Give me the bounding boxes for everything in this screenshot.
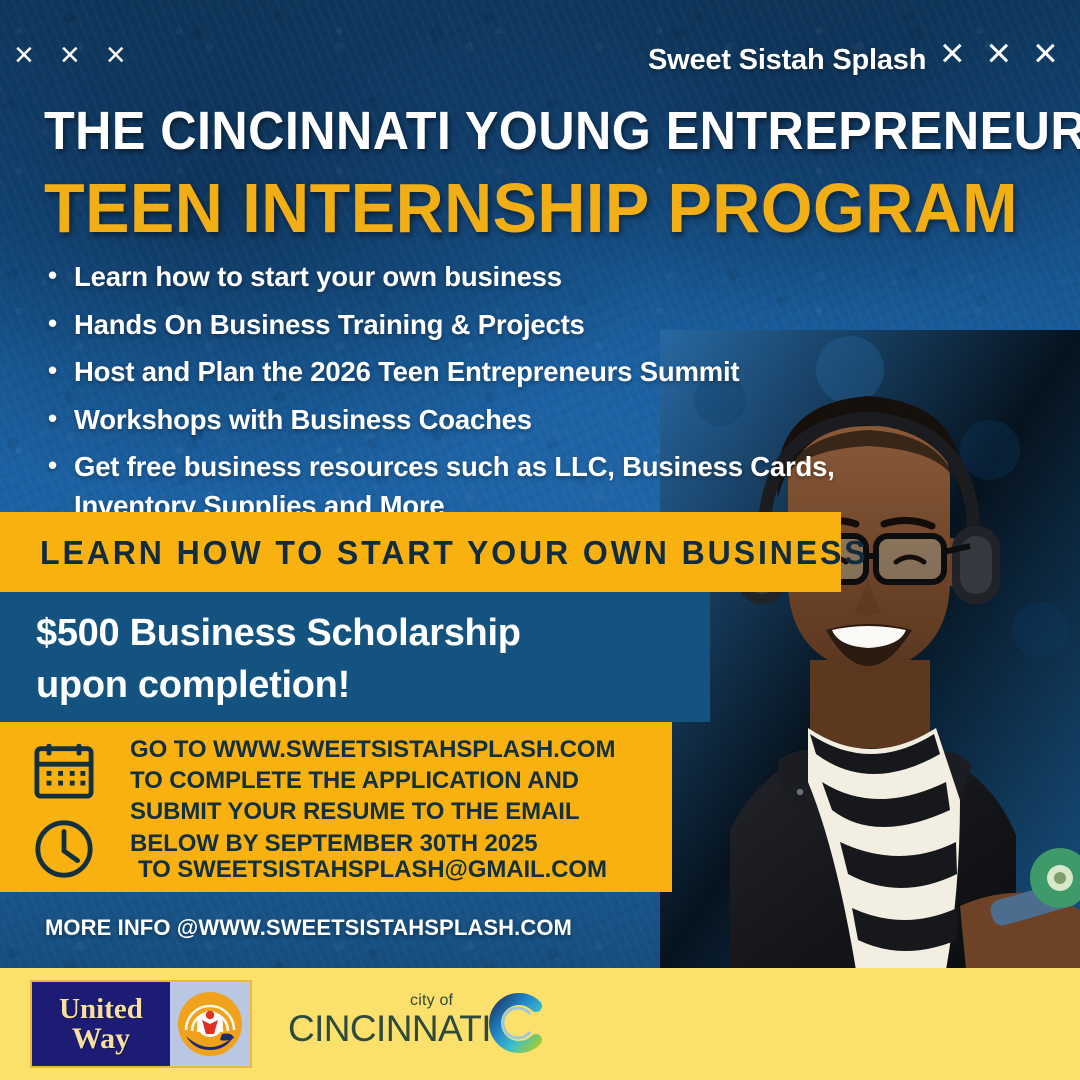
x-icon: × xyxy=(14,38,34,72)
united-way-word2: Way xyxy=(72,1024,130,1054)
united-way-wordmark: United Way xyxy=(32,982,170,1066)
clock-icon xyxy=(33,818,95,880)
apply-line: SUBMIT YOUR RESUME TO THE EMAIL xyxy=(130,796,660,827)
sponsor-footer: United Way xyxy=(0,968,1080,1080)
list-item: Hands On Business Training & Projects xyxy=(44,306,844,345)
x-icon: × xyxy=(987,32,1012,74)
united-way-word1: United xyxy=(59,995,143,1024)
flyer-canvas: × × × Sweet Sistah Splash × × × THE CINC… xyxy=(0,0,1080,1080)
decorative-x-marks-right: × × × xyxy=(940,32,1058,74)
application-instructions-block: GO TO WWW.SWEETSISTAHSPLASH.COM TO COMPL… xyxy=(0,722,672,892)
list-item: Workshops with Business Coaches xyxy=(44,401,844,440)
cincinnati-wordmark: CINCINNATI xyxy=(288,1008,491,1050)
application-steps: GO TO WWW.SWEETSISTAHSPLASH.COM TO COMPL… xyxy=(130,734,660,859)
decorative-x-marks-left: × × × xyxy=(14,38,126,72)
scholarship-condition: upon completion! xyxy=(36,664,350,707)
x-icon: × xyxy=(940,32,965,74)
scholarship-amount: $500 Business Scholarship xyxy=(36,612,521,655)
x-icon: × xyxy=(1033,32,1058,74)
headline-primary: THE CINCINNATI YOUNG ENTREPRENEURS xyxy=(44,100,788,162)
tagline-text: LEARN HOW TO START YOUR OWN BUSINESS xyxy=(40,534,869,572)
apply-line: TO COMPLETE THE APPLICATION AND xyxy=(130,765,660,796)
united-way-logo: United Way xyxy=(30,980,252,1068)
list-item: Host and Plan the 2026 Teen Entrepreneur… xyxy=(44,353,844,392)
apply-line: GO TO WWW.SWEETSISTAHSPLASH.COM xyxy=(130,734,660,765)
scholarship-block: $500 Business Scholarship upon completio… xyxy=(0,592,710,722)
apply-line: BELOW BY SEPTEMBER 30TH 2025 xyxy=(130,828,660,859)
cincinnati-c-icon xyxy=(484,990,550,1056)
city-of-cincinnati-logo: city of CINCINNATI xyxy=(288,990,550,1058)
contact-email: TO SWEETSISTAHSPLASH@GMAIL.COM xyxy=(138,856,607,884)
list-item: Learn how to start your own business xyxy=(44,258,844,297)
united-way-rainbow-hand-icon xyxy=(170,982,250,1066)
tagline-banner: LEARN HOW TO START YOUR OWN BUSINESS xyxy=(0,512,841,592)
brand-name-top: Sweet Sistah Splash xyxy=(648,44,926,77)
x-icon: × xyxy=(60,38,80,72)
headline-secondary: TEEN INTERNSHIP PROGRAM xyxy=(44,168,1018,248)
calendar-icon xyxy=(33,740,95,800)
program-benefits-list: Learn how to start your own business Han… xyxy=(44,258,844,534)
x-icon: × xyxy=(106,38,126,72)
more-info-url: MORE INFO @WWW.SWEETSISTAHSPLASH.COM xyxy=(45,915,572,941)
